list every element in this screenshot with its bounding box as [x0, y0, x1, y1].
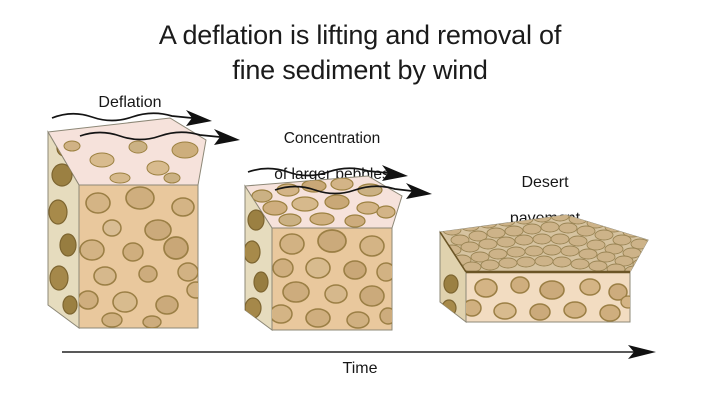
stage-1-block [48, 110, 240, 328]
diagram-artwork [0, 0, 720, 404]
stage-2-wind-arrow-line-upper [248, 168, 388, 175]
stage-3-pavement-armor [438, 211, 652, 276]
time-axis [62, 345, 656, 359]
time-axis-label: Time [290, 360, 430, 378]
stage-3-block [438, 211, 652, 322]
stage-2-block [244, 165, 432, 330]
illustration-canvas: A deflation is lifting and removal of fi… [0, 0, 720, 404]
